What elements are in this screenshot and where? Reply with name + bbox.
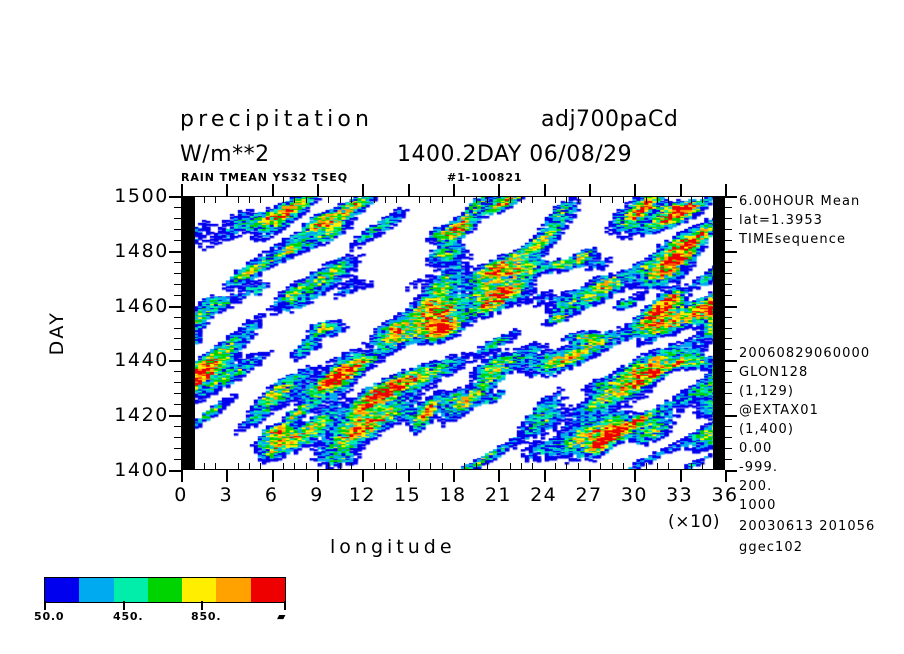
y-tick-label-1500: 1500 — [93, 185, 169, 207]
x-minor-tick-top — [374, 196, 375, 203]
y-major-tick-right — [725, 196, 737, 198]
timestamp-label: 1400.2DAY 06/08/29 — [397, 142, 632, 167]
x-major-tick — [453, 470, 455, 482]
hovmoller-plot — [181, 196, 725, 470]
x-minor-tick-top — [487, 196, 488, 203]
x-tick-label-15: 15 — [385, 484, 431, 506]
y-major-tick — [169, 251, 181, 253]
masked-band-left — [182, 197, 195, 469]
x-minor-tick-top — [340, 196, 341, 203]
colorbar-tick-3 — [284, 601, 286, 610]
colorbar-tick-2 — [201, 601, 203, 610]
x-major-tick — [498, 470, 500, 482]
caption-left: RAIN TMEAN YS32 TSEQ — [181, 171, 348, 184]
colorbar-label-1: 450. — [113, 610, 143, 623]
y-minor-tick — [174, 382, 181, 383]
colorbar-band-4 — [182, 578, 216, 602]
x-minor-tick-top — [657, 196, 658, 203]
y-minor-tick — [725, 240, 732, 241]
x-major-tick-top — [544, 184, 546, 196]
side-bot-line-0: -999. — [739, 458, 778, 477]
x-minor-tick-top — [351, 196, 352, 203]
x-minor-tick — [487, 463, 488, 470]
x-major-tick — [317, 470, 319, 482]
x-minor-tick — [238, 463, 239, 470]
colorbar-label-3: ▰ — [277, 610, 286, 623]
x-major-tick-top — [680, 184, 682, 196]
y-minor-tick — [174, 328, 181, 329]
y-major-tick — [169, 196, 181, 198]
y-tick-label-1420: 1420 — [93, 404, 169, 426]
x-minor-tick — [691, 463, 692, 470]
page-title: precipitation — [180, 107, 373, 132]
y-major-tick — [169, 415, 181, 417]
side-panel-bottom: -999.200.1000 — [739, 458, 778, 515]
y-minor-tick — [725, 207, 732, 208]
side-foot-line-0: 20030613 201056 — [739, 516, 875, 537]
x-minor-tick — [419, 463, 420, 470]
x-major-tick — [181, 470, 183, 482]
colorbar-band-6 — [251, 578, 285, 602]
y-minor-tick — [725, 229, 732, 230]
y-tick-label-1400: 1400 — [93, 459, 169, 481]
x-minor-tick-top — [442, 196, 443, 203]
colorbar-label-2: 850. — [191, 610, 221, 623]
y-minor-tick — [174, 262, 181, 263]
y-major-tick-right — [725, 415, 737, 417]
side-panel-top: 6.00HOUR Meanlat=1.3953TIMEsequence — [739, 192, 860, 249]
y-minor-tick — [725, 317, 732, 318]
x-axis-multiplier: (×10) — [668, 512, 720, 532]
side-mid-line-0: 20060829060000 — [739, 344, 870, 363]
x-major-tick-top — [589, 184, 591, 196]
x-major-tick-top — [453, 184, 455, 196]
colorbar-tick-1 — [123, 601, 125, 610]
y-minor-tick — [174, 437, 181, 438]
x-minor-tick-top — [521, 196, 522, 203]
y-minor-tick — [725, 284, 732, 285]
side-bot-line-1: 200. — [739, 477, 778, 496]
side-mid-line-4: (1,400) — [739, 420, 870, 439]
y-minor-tick — [725, 328, 732, 329]
x-tick-label-18: 18 — [430, 484, 476, 506]
x-minor-tick — [260, 463, 261, 470]
x-tick-label-9: 9 — [294, 484, 340, 506]
x-minor-tick — [430, 463, 431, 470]
side-bot-line-2: 1000 — [739, 496, 778, 515]
y-major-tick-right — [725, 306, 737, 308]
x-minor-tick-top — [555, 196, 556, 203]
y-minor-tick — [174, 229, 181, 230]
side-mid-line-5: 0.00 — [739, 439, 870, 458]
x-minor-tick — [646, 463, 647, 470]
side-foot-line-1: ggec102 — [739, 537, 875, 558]
colorbar-band-3 — [148, 578, 182, 602]
x-minor-tick-top — [612, 196, 613, 203]
y-minor-tick — [174, 273, 181, 274]
y-major-tick-right — [725, 251, 737, 253]
y-minor-tick — [725, 382, 732, 383]
x-minor-tick — [464, 463, 465, 470]
units-label: W/m**2 — [180, 142, 270, 167]
y-minor-tick — [725, 404, 732, 405]
x-major-tick-top — [226, 184, 228, 196]
x-minor-tick-top — [419, 196, 420, 203]
x-minor-tick — [702, 463, 703, 470]
y-major-tick — [169, 306, 181, 308]
x-major-tick — [408, 470, 410, 482]
x-minor-tick-top — [578, 196, 579, 203]
x-tick-label-30: 30 — [611, 484, 657, 506]
x-minor-tick-top — [260, 196, 261, 203]
x-minor-tick-top — [623, 196, 624, 203]
y-minor-tick — [725, 273, 732, 274]
x-minor-tick-top — [283, 196, 284, 203]
x-minor-tick-top — [476, 196, 477, 203]
side-mid-line-1: GLON128 — [739, 363, 870, 382]
side-top-line-1: lat=1.3953 — [739, 211, 860, 230]
x-tick-label-27: 27 — [566, 484, 612, 506]
x-minor-tick-top — [238, 196, 239, 203]
x-minor-tick-top — [215, 196, 216, 203]
x-minor-tick-top — [430, 196, 431, 203]
x-minor-tick-top — [566, 196, 567, 203]
y-minor-tick — [174, 317, 181, 318]
x-minor-tick-top — [668, 196, 669, 203]
y-minor-tick — [174, 338, 181, 339]
x-minor-tick — [385, 463, 386, 470]
x-minor-tick-top — [396, 196, 397, 203]
colorbar-band-1 — [79, 578, 113, 602]
x-tick-label-12: 12 — [339, 484, 385, 506]
x-minor-tick — [249, 463, 250, 470]
y-minor-tick — [174, 371, 181, 372]
colorbar — [44, 577, 286, 603]
side-mid-line-2: (1,129) — [739, 382, 870, 401]
x-minor-tick-top — [192, 196, 193, 203]
y-minor-tick — [725, 295, 732, 296]
x-major-tick-top — [362, 184, 364, 196]
x-minor-tick — [623, 463, 624, 470]
x-minor-tick-top — [510, 196, 511, 203]
y-minor-tick — [725, 371, 732, 372]
colorbar-label-0: 50.0 — [34, 610, 64, 623]
x-minor-tick-top — [306, 196, 307, 203]
x-minor-tick — [192, 463, 193, 470]
x-major-tick-top — [725, 184, 727, 196]
x-minor-tick — [283, 463, 284, 470]
y-minor-tick — [725, 459, 732, 460]
colorbar-tick-0 — [44, 601, 46, 610]
x-minor-tick-top — [249, 196, 250, 203]
x-minor-tick — [510, 463, 511, 470]
side-top-line-0: 6.00HOUR Mean — [739, 192, 860, 211]
x-minor-tick — [328, 463, 329, 470]
x-minor-tick — [442, 463, 443, 470]
y-minor-tick — [174, 295, 181, 296]
x-major-tick-top — [634, 184, 636, 196]
y-minor-tick — [725, 437, 732, 438]
x-tick-label-33: 33 — [657, 484, 703, 506]
y-minor-tick — [174, 393, 181, 394]
y-minor-tick — [725, 448, 732, 449]
x-minor-tick — [294, 463, 295, 470]
y-minor-tick — [174, 404, 181, 405]
side-panel-middle: 20060829060000GLON128(1,129)@EXTAX01(1,4… — [739, 344, 870, 458]
x-minor-tick — [578, 463, 579, 470]
side-mid-line-3: @EXTAX01 — [739, 401, 870, 420]
x-major-tick-top — [272, 184, 274, 196]
x-minor-tick — [351, 463, 352, 470]
x-minor-tick — [657, 463, 658, 470]
colorbar-band-5 — [216, 578, 250, 602]
x-minor-tick-top — [328, 196, 329, 203]
x-tick-label-3: 3 — [203, 484, 249, 506]
x-tick-label-0: 0 — [158, 484, 204, 506]
x-major-tick-top — [498, 184, 500, 196]
y-axis-title: DAY — [46, 273, 68, 393]
x-major-tick-top — [408, 184, 410, 196]
x-minor-tick — [374, 463, 375, 470]
x-major-tick — [634, 470, 636, 482]
x-minor-tick-top — [646, 196, 647, 203]
x-minor-tick — [600, 463, 601, 470]
x-minor-tick — [476, 463, 477, 470]
x-minor-tick-top — [204, 196, 205, 203]
dataset-label: adj700paCd — [541, 107, 678, 132]
x-minor-tick — [714, 463, 715, 470]
x-minor-tick-top — [702, 196, 703, 203]
x-minor-tick — [204, 463, 205, 470]
y-minor-tick — [174, 448, 181, 449]
y-minor-tick — [725, 338, 732, 339]
y-minor-tick — [725, 349, 732, 350]
x-major-tick — [226, 470, 228, 482]
x-minor-tick — [668, 463, 669, 470]
x-minor-tick — [306, 463, 307, 470]
x-major-tick — [544, 470, 546, 482]
x-major-tick — [589, 470, 591, 482]
x-minor-tick-top — [464, 196, 465, 203]
precipitation-heatmap — [182, 197, 724, 469]
x-major-tick — [725, 470, 727, 482]
x-tick-label-6: 6 — [249, 484, 295, 506]
colorbar-band-2 — [114, 578, 148, 602]
y-tick-label-1480: 1480 — [93, 240, 169, 262]
x-major-tick-top — [317, 184, 319, 196]
side-panel-footer: 20030613 201056ggec102 — [739, 516, 875, 558]
y-tick-label-1460: 1460 — [93, 295, 169, 317]
x-minor-tick-top — [385, 196, 386, 203]
y-tick-label-1440: 1440 — [93, 349, 169, 371]
x-minor-tick — [521, 463, 522, 470]
y-minor-tick — [174, 240, 181, 241]
x-minor-tick — [340, 463, 341, 470]
y-minor-tick — [725, 218, 732, 219]
x-minor-tick — [396, 463, 397, 470]
x-minor-tick — [532, 463, 533, 470]
x-minor-tick-top — [691, 196, 692, 203]
y-minor-tick — [725, 426, 732, 427]
x-major-tick — [272, 470, 274, 482]
y-minor-tick — [174, 207, 181, 208]
y-minor-tick — [174, 426, 181, 427]
x-axis-title: longitude — [330, 536, 456, 558]
x-major-tick — [362, 470, 364, 482]
side-top-line-2: TIMEsequence — [739, 230, 860, 249]
x-major-tick-top — [181, 184, 183, 196]
x-minor-tick-top — [600, 196, 601, 203]
colorbar-band-0 — [45, 578, 79, 602]
masked-band-right — [713, 197, 724, 469]
y-minor-tick — [174, 284, 181, 285]
x-minor-tick-top — [714, 196, 715, 203]
caption-right: #1-100821 — [447, 171, 522, 184]
y-minor-tick — [174, 218, 181, 219]
x-minor-tick-top — [532, 196, 533, 203]
y-minor-tick — [174, 349, 181, 350]
y-major-tick-right — [725, 360, 737, 362]
x-tick-label-21: 21 — [475, 484, 521, 506]
y-minor-tick — [725, 393, 732, 394]
x-minor-tick — [612, 463, 613, 470]
x-minor-tick-top — [294, 196, 295, 203]
y-minor-tick — [725, 262, 732, 263]
y-major-tick — [169, 360, 181, 362]
y-minor-tick — [174, 459, 181, 460]
x-major-tick — [680, 470, 682, 482]
x-minor-tick — [555, 463, 556, 470]
x-minor-tick — [566, 463, 567, 470]
x-minor-tick — [215, 463, 216, 470]
y-major-tick — [169, 470, 181, 472]
x-tick-label-24: 24 — [521, 484, 567, 506]
